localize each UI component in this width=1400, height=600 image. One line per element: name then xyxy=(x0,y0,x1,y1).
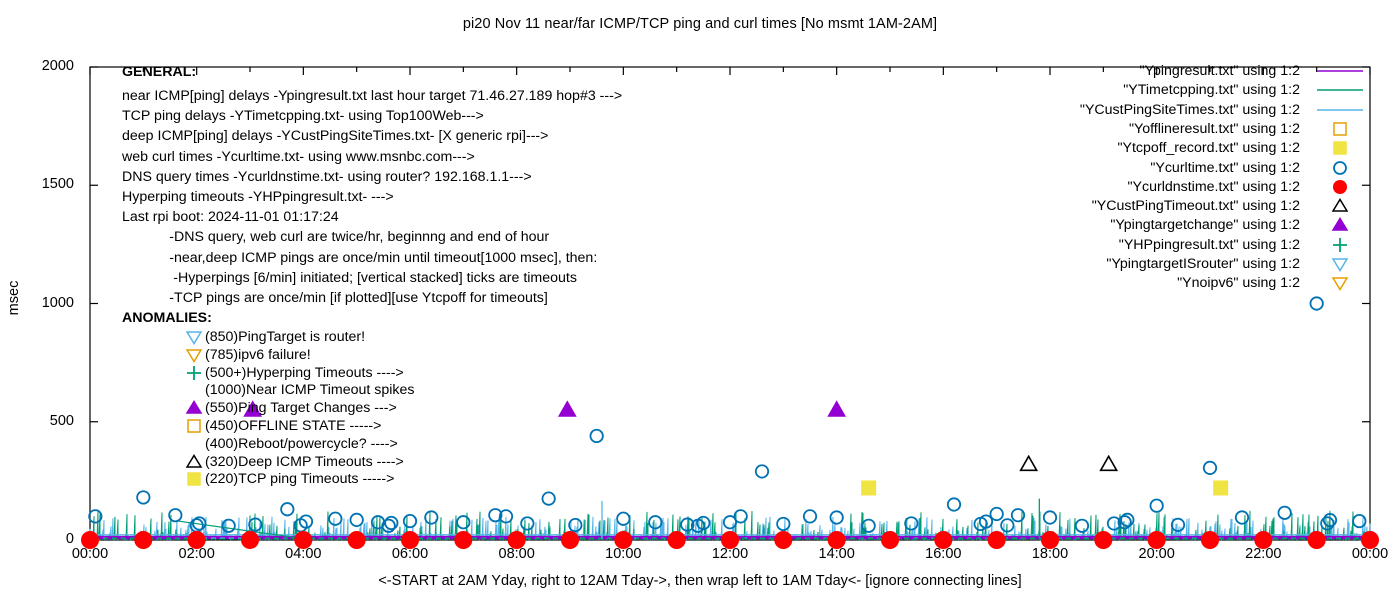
curltime-point xyxy=(281,503,293,515)
curltime-point xyxy=(1236,511,1248,523)
legend-entry-2[interactable]: "YCustPingSiteTimes.txt" using 1:2 xyxy=(1040,101,1370,119)
open-up-triangle-black-icon xyxy=(185,453,205,471)
legend-label-6: "Ycurldnstime.txt" using 1:2 xyxy=(1127,179,1300,195)
legend-label-8: "Ypingtargetchange" using 1:2 xyxy=(1110,217,1300,233)
deep-icmp-timeout-marker xyxy=(1101,456,1117,470)
curldnstime-point xyxy=(455,532,472,549)
curltime-point xyxy=(382,520,394,532)
general-line-4: DNS query times -Ycurldnstime.txt- using… xyxy=(122,167,532,187)
curltime-point xyxy=(385,517,397,529)
curltime-point xyxy=(1278,507,1290,519)
filled-square-yellow-icon xyxy=(185,470,205,488)
anomaly-row-5: (450)OFFLINE STATE -----> xyxy=(185,417,381,435)
curldnstime-point xyxy=(1042,532,1059,549)
anomaly-label-8: (220)TCP ping Timeouts -----> xyxy=(205,471,394,487)
anomaly-label-6: (400)Reboot/powercycle? ----> xyxy=(205,436,398,452)
legend-filled-circle-icon xyxy=(1310,178,1370,196)
open-down-triangle-orange-icon xyxy=(185,346,205,364)
general-line-8: -near,deep ICMP pings are once/min until… xyxy=(122,248,597,268)
curltime-point xyxy=(1150,500,1162,512)
legend-filled-up-triangle-icon xyxy=(1310,216,1370,234)
legend-open-up-triangle-icon xyxy=(1310,197,1370,215)
anomaly-row-1: (785)ipv6 failure! xyxy=(185,346,311,364)
curltime-point xyxy=(590,430,602,442)
legend-open-down-triangle-icon xyxy=(1310,274,1370,292)
curltime-point xyxy=(425,511,437,523)
legend-entry-3[interactable]: "Yofflineresult.txt" using 1:2 xyxy=(1040,120,1370,138)
curldnstime-point xyxy=(1148,532,1165,549)
legend-label-10: "YpingtargetISrouter" using 1:2 xyxy=(1106,256,1300,272)
anomaly-label-7: (320)Deep ICMP Timeouts ----> xyxy=(205,454,404,470)
curltime-point xyxy=(1310,297,1322,309)
curltime-point xyxy=(777,518,789,530)
legend-open-square-icon xyxy=(1310,120,1370,138)
legend-filled-square-icon xyxy=(1310,139,1370,157)
legend-entry-5[interactable]: "Ycurltime.txt" using 1:2 xyxy=(1040,159,1370,177)
legend-label-2: "YCustPingSiteTimes.txt" using 1:2 xyxy=(1080,102,1300,118)
legend-label-0: "Ypingresult.txt" using 1:2 xyxy=(1140,63,1300,79)
pingtargetchange-marker xyxy=(559,402,575,416)
legend-entry-9[interactable]: "YHPpingresult.txt" using 1:2 xyxy=(1040,236,1370,254)
curldnstime-point xyxy=(1202,532,1219,549)
curltime-point xyxy=(521,517,533,529)
anomaly-row-7: (320)Deep ICMP Timeouts ----> xyxy=(185,453,404,471)
curldnstime-point xyxy=(348,532,365,549)
anomaly-row-6: (400)Reboot/powercycle? ----> xyxy=(185,435,398,453)
general-line-9: -Hyperpings [6/min] initiated; [vertical… xyxy=(122,268,577,288)
anomaly-symbol-none-icon xyxy=(185,435,205,453)
anomaly-label-5: (450)OFFLINE STATE -----> xyxy=(205,418,381,434)
anomalies-heading: ANOMALIES: xyxy=(122,308,212,328)
legend-entry-6[interactable]: "Ycurldnstime.txt" using 1:2 xyxy=(1040,178,1370,196)
curltime-point xyxy=(1044,511,1056,523)
legend-entry-4[interactable]: "Ytcpoff_record.txt" using 1:2 xyxy=(1040,139,1370,157)
curltime-point xyxy=(350,514,362,526)
curldnstime-point xyxy=(775,532,792,549)
legend-entry-10[interactable]: "YpingtargetISrouter" using 1:2 xyxy=(1040,255,1370,273)
curldnstime-point xyxy=(1362,532,1379,549)
general-line-5: Hyperping timeouts -YHPpingresult.txt- -… xyxy=(122,187,394,207)
curldnstime-point xyxy=(562,532,579,549)
general-heading: GENERAL: xyxy=(122,62,196,82)
legend-label-3: "Yofflineresult.txt" using 1:2 xyxy=(1129,121,1300,137)
legend-plus-icon xyxy=(1310,236,1370,254)
anomaly-label-3: (1000)Near ICMP Timeout spikes xyxy=(205,382,414,398)
curldnstime-point xyxy=(1308,532,1325,549)
general-line-1: TCP ping delays -YTimetcpping.txt- using… xyxy=(122,106,484,126)
anomaly-label-2: (500+)Hyperping Timeouts ----> xyxy=(205,365,404,381)
curltime-point xyxy=(1121,514,1133,526)
legend-label-11: "Ynoipv6" using 1:2 xyxy=(1177,275,1300,291)
curldnstime-point xyxy=(988,532,1005,549)
anomaly-row-0: (850)PingTarget is router! xyxy=(185,328,365,346)
pingtargetchange-marker xyxy=(829,402,845,416)
curldnstime-point xyxy=(1255,532,1272,549)
curltime-point xyxy=(137,491,149,503)
anomaly-row-3: (1000)Near ICMP Timeout spikes xyxy=(185,381,414,399)
curldnstime-point xyxy=(722,532,739,549)
anomaly-label-0: (850)PingTarget is router! xyxy=(205,329,365,345)
curltime-point xyxy=(804,510,816,522)
tcpoff-marker xyxy=(862,481,876,495)
curldnstime-point xyxy=(935,532,952,549)
curldnstime-point xyxy=(188,532,205,549)
deep-icmp-timeout-marker xyxy=(1021,456,1037,470)
legend-entry-8[interactable]: "Ypingtargetchange" using 1:2 xyxy=(1040,216,1370,234)
legend-label-4: "Ytcpoff_record.txt" using 1:2 xyxy=(1117,140,1300,156)
curltime-point xyxy=(329,513,341,525)
curldnstime-point xyxy=(402,532,419,549)
anomaly-row-2: (500+)Hyperping Timeouts ----> xyxy=(185,364,404,382)
legend-label-7: "YCustPingTimeout.txt" using 1:2 xyxy=(1092,198,1300,214)
curldnstime-point xyxy=(242,532,259,549)
anomaly-label-4: (550)Ping Target Changes ---> xyxy=(205,400,397,416)
curldnstime-point xyxy=(508,532,525,549)
anomaly-label-1: (785)ipv6 failure! xyxy=(205,347,311,363)
curltime-point xyxy=(404,515,416,527)
curltime-point xyxy=(1353,515,1365,527)
plus-teal-icon xyxy=(185,364,205,382)
general-line-3: web curl times -Ycurltime.txt- using www… xyxy=(122,147,475,167)
general-line-7: -DNS query, web curl are twice/hr, begin… xyxy=(122,227,549,247)
legend-entry-11[interactable]: "Ynoipv6" using 1:2 xyxy=(1040,274,1370,292)
curltime-point xyxy=(1172,519,1184,531)
general-line-2: deep ICMP[ping] delays -YCustPingSiteTim… xyxy=(122,126,548,146)
anomaly-row-8: (220)TCP ping Timeouts -----> xyxy=(185,470,394,488)
legend-line-icon xyxy=(1310,101,1370,119)
curldnstime-point xyxy=(295,532,312,549)
curldnstime-point xyxy=(615,532,632,549)
general-line-6: Last rpi boot: 2024-11-01 01:17:24 xyxy=(122,207,339,227)
curldnstime-point xyxy=(1095,532,1112,549)
tcpoff-marker xyxy=(1214,481,1228,495)
curldnstime-point xyxy=(135,532,152,549)
chart-page: pi20 Nov 11 near/far ICMP/TCP ping and c… xyxy=(0,0,1400,600)
curltime-point xyxy=(457,516,469,528)
curltime-point xyxy=(948,498,960,510)
legend-open-circle-icon xyxy=(1310,159,1370,177)
general-line-10: -TCP pings are once/min [if plotted][use… xyxy=(122,288,548,308)
curltime-point xyxy=(990,508,1002,520)
curldnstime-point xyxy=(82,532,99,549)
legend-label-1: "YTimetcpping.txt" using 1:2 xyxy=(1123,82,1300,98)
legend-open-down-triangle-icon xyxy=(1310,255,1370,273)
legend-entry-7[interactable]: "YCustPingTimeout.txt" using 1:2 xyxy=(1040,197,1370,215)
curltime-point xyxy=(756,465,768,477)
open-down-triangle-lightblue-icon xyxy=(185,328,205,346)
filled-up-triangle-purple-icon xyxy=(185,399,205,417)
curltime-point xyxy=(617,513,629,525)
open-square-orange-icon xyxy=(185,417,205,435)
anomaly-row-4: (550)Ping Target Changes ---> xyxy=(185,399,397,417)
curltime-point xyxy=(542,492,554,504)
curltime-point xyxy=(1204,462,1216,474)
curltime-point xyxy=(1076,520,1088,532)
curldnstime-point xyxy=(828,532,845,549)
curltime-point xyxy=(830,511,842,523)
legend-label-5: "Ycurltime.txt" using 1:2 xyxy=(1150,160,1300,176)
curldnstime-point xyxy=(668,532,685,549)
curldnstime-point xyxy=(882,532,899,549)
legend-label-9: "YHPpingresult.txt" using 1:2 xyxy=(1119,237,1300,253)
general-line-0: near ICMP[ping] delays -Ypingresult.txt … xyxy=(122,86,622,106)
anomaly-symbol-none-icon xyxy=(185,381,205,399)
